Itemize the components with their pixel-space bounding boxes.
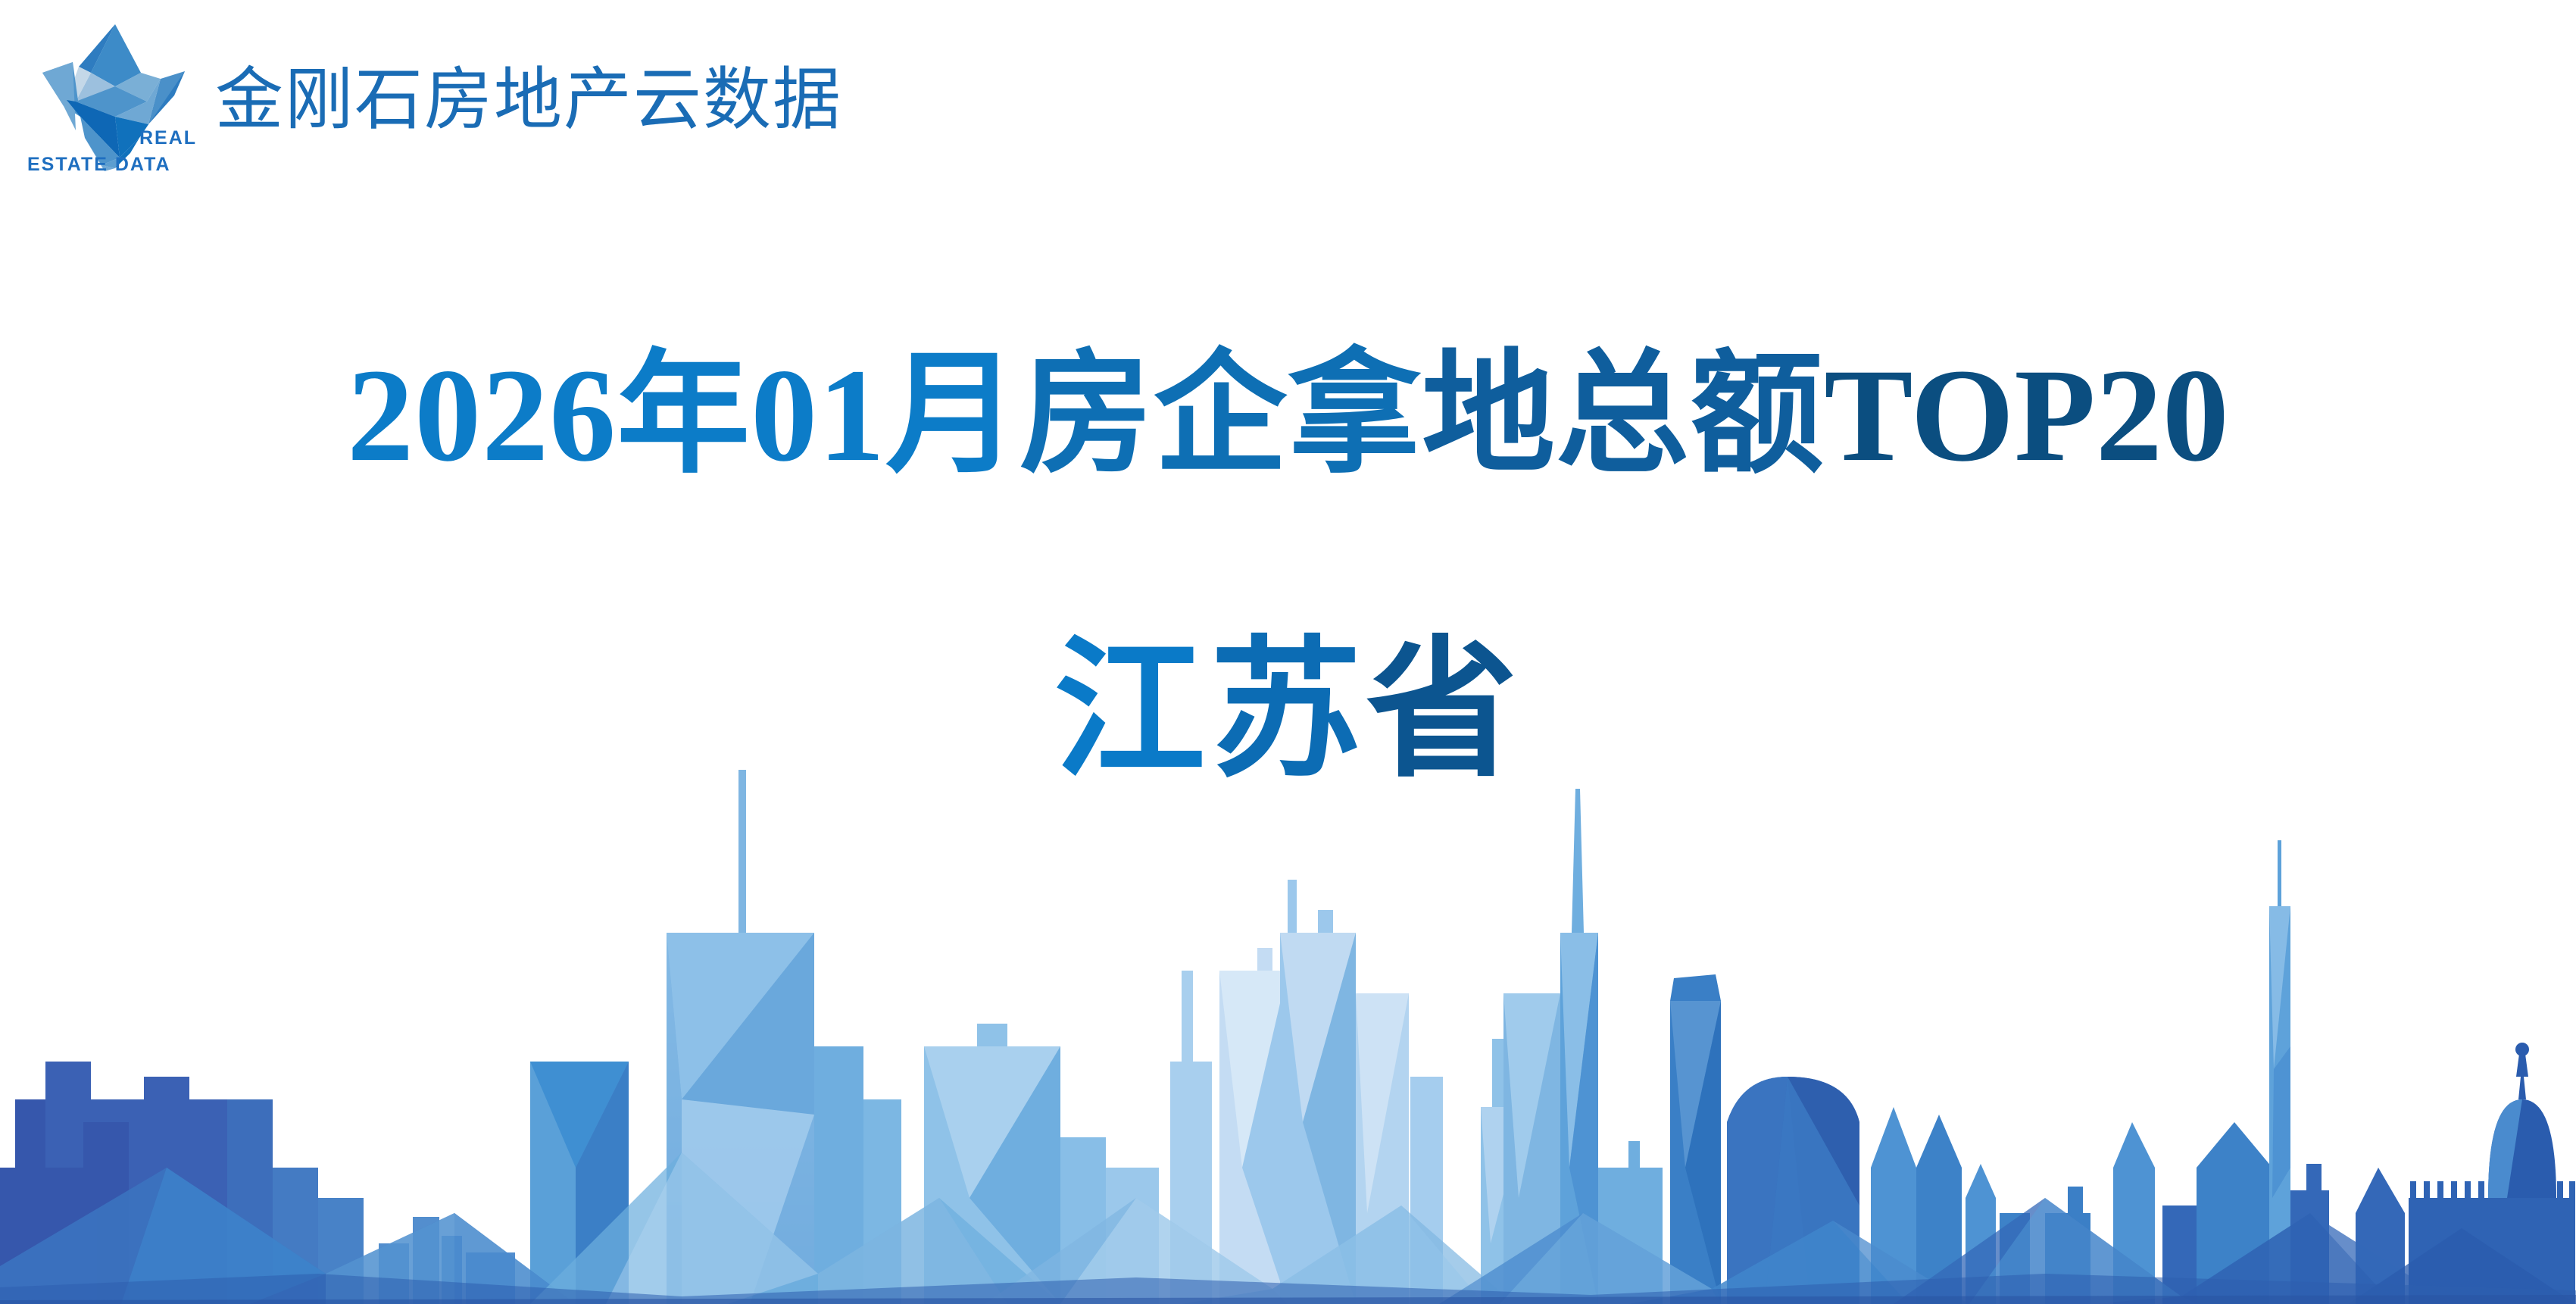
title-segment-rank: TOP20: [1824, 342, 2229, 489]
title-segment-landtotal: 地总额: [1422, 342, 1824, 489]
city-skyline-illustration: [0, 743, 2576, 1304]
region-subtitle: 江苏省: [0, 635, 2576, 786]
brand-header: REAL ESTATE DATA 金刚石房地产云数据: [26, 17, 842, 177]
region-char-1: 江: [1054, 622, 1210, 799]
logo-tagline-real: REAL: [139, 127, 197, 149]
title-segment-developer: 房企拿: [1019, 342, 1422, 489]
page-title: 2026年01月房企拿地总额TOP20: [0, 342, 2576, 489]
logo-tagline-estate-data: ESTATE DATA: [27, 154, 171, 175]
region-char-2: 苏: [1210, 622, 1366, 799]
poster-canvas: REAL ESTATE DATA 金刚石房地产云数据 2026年01月房企拿地总…: [0, 0, 2576, 1304]
diamond-crystal-logo-icon: REAL ESTATE DATA: [26, 17, 201, 177]
title-segment-date: 2026年01月: [347, 342, 1019, 489]
region-char-3: 省: [1366, 622, 1522, 799]
brand-name: 金刚石房地产云数据: [215, 66, 842, 134]
